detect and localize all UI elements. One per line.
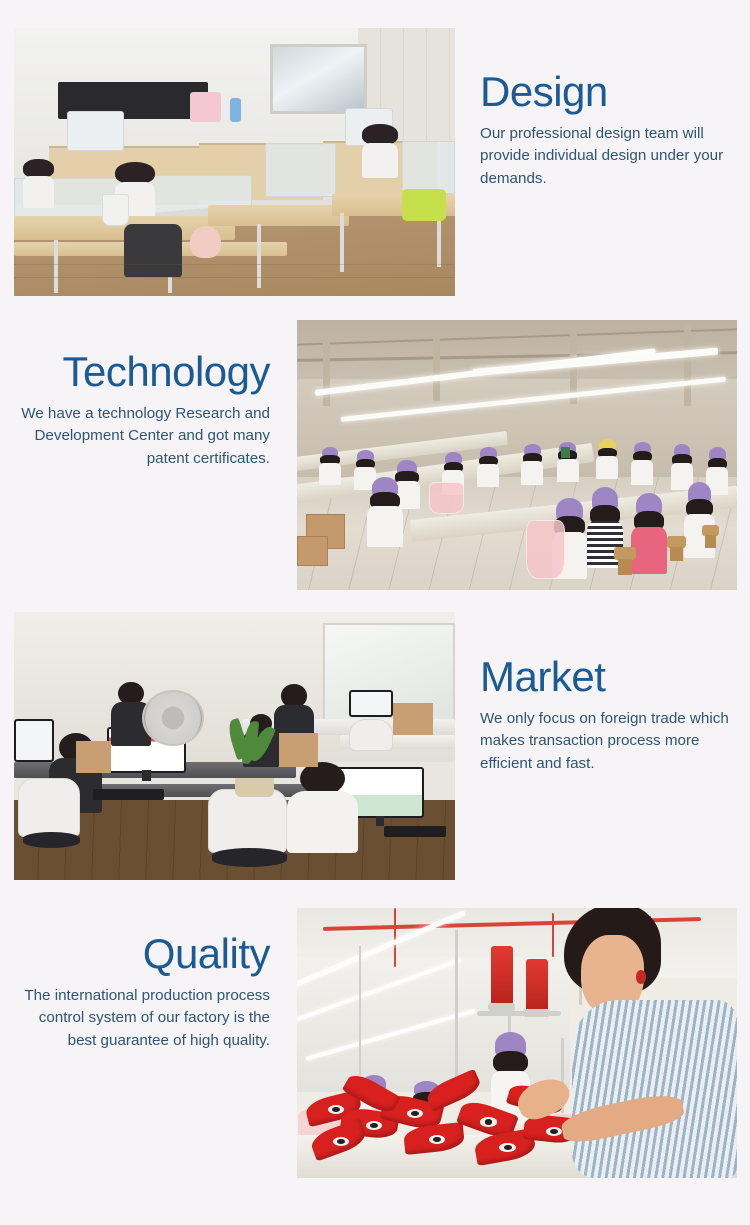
quality-text-block: Quality The international production pro…: [16, 932, 270, 1052]
market-photo: [14, 612, 455, 880]
design-photo: [14, 28, 455, 296]
technology-text-block: Technology We have a technology Research…: [16, 350, 270, 470]
design-text-block: Design Our professional design team will…: [480, 70, 734, 190]
design-heading: Design: [480, 70, 734, 114]
technology-body: We have a technology Research and Develo…: [16, 403, 270, 471]
quality-photo: [297, 908, 737, 1178]
quality-heading: Quality: [16, 932, 270, 976]
quality-body: The international production process con…: [16, 985, 270, 1053]
market-text-block: Market We only focus on foreign trade wh…: [480, 655, 742, 775]
market-body: We only focus on foreign trade which mak…: [480, 708, 742, 776]
technology-heading: Technology: [16, 350, 270, 394]
technology-photo: [297, 320, 737, 590]
design-body: Our professional design team will provid…: [480, 123, 734, 191]
company-advantages-page: Design Our professional design team will…: [0, 0, 750, 1225]
market-heading: Market: [480, 655, 742, 699]
